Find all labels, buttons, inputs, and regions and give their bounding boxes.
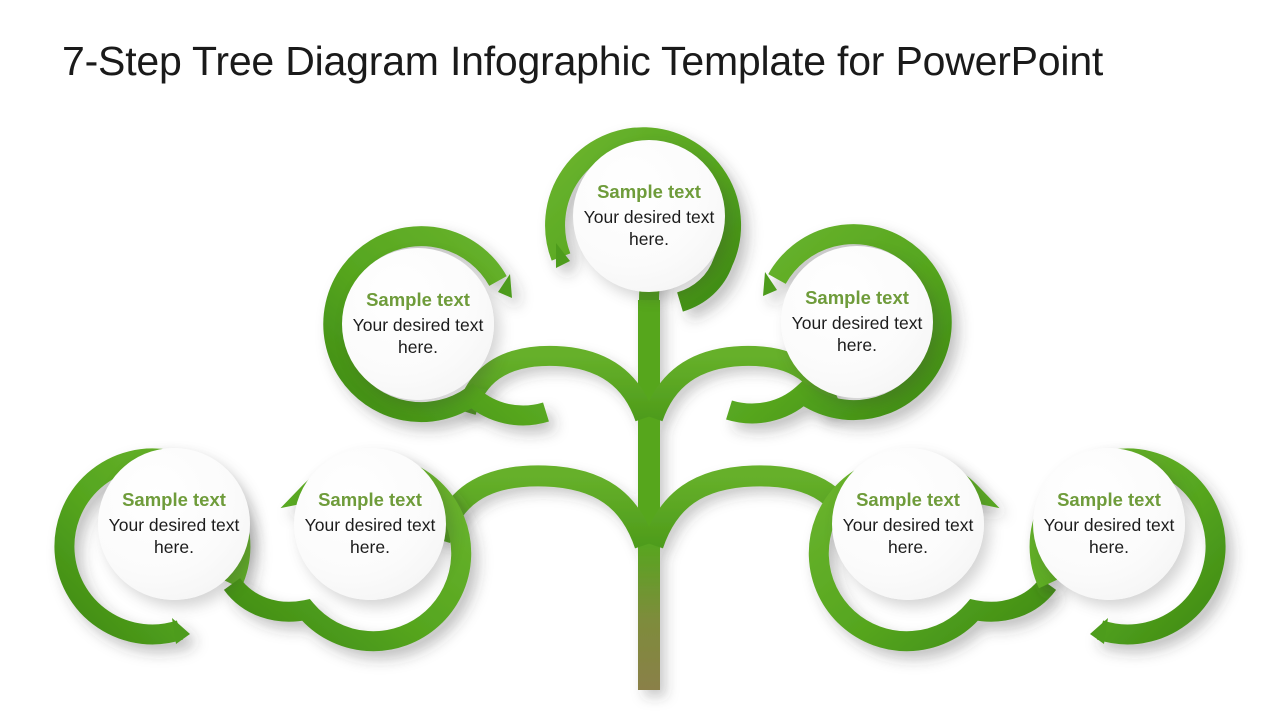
node-step-6[interactable]: Sample text Your desired text here.: [832, 448, 984, 600]
node-title: Sample text: [318, 489, 422, 510]
node-step-1[interactable]: Sample text Your desired text here.: [573, 140, 725, 292]
node-step-5[interactable]: Sample text Your desired text here.: [294, 448, 446, 600]
node-body: Your desired text here.: [304, 514, 436, 559]
node-body: Your desired text here.: [1043, 514, 1175, 559]
node-step-3[interactable]: Sample text Your desired text here.: [781, 246, 933, 398]
node-title: Sample text: [856, 489, 960, 510]
node-body: Your desired text here.: [842, 514, 974, 559]
node-body: Your desired text here.: [352, 314, 484, 359]
node-title: Sample text: [805, 287, 909, 308]
tree-illustration: [0, 0, 1280, 720]
node-step-4[interactable]: Sample text Your desired text here.: [98, 448, 250, 600]
node-title: Sample text: [597, 181, 701, 202]
node-title: Sample text: [122, 489, 226, 510]
node-step-7[interactable]: Sample text Your desired text here.: [1033, 448, 1185, 600]
slide-canvas: 7-Step Tree Diagram Infographic Template…: [0, 0, 1280, 720]
node-body: Your desired text here.: [108, 514, 240, 559]
node-body: Your desired text here.: [583, 206, 715, 251]
node-title: Sample text: [1057, 489, 1161, 510]
node-title: Sample text: [366, 289, 470, 310]
node-body: Your desired text here.: [791, 312, 923, 357]
node-step-2[interactable]: Sample text Your desired text here.: [342, 248, 494, 400]
